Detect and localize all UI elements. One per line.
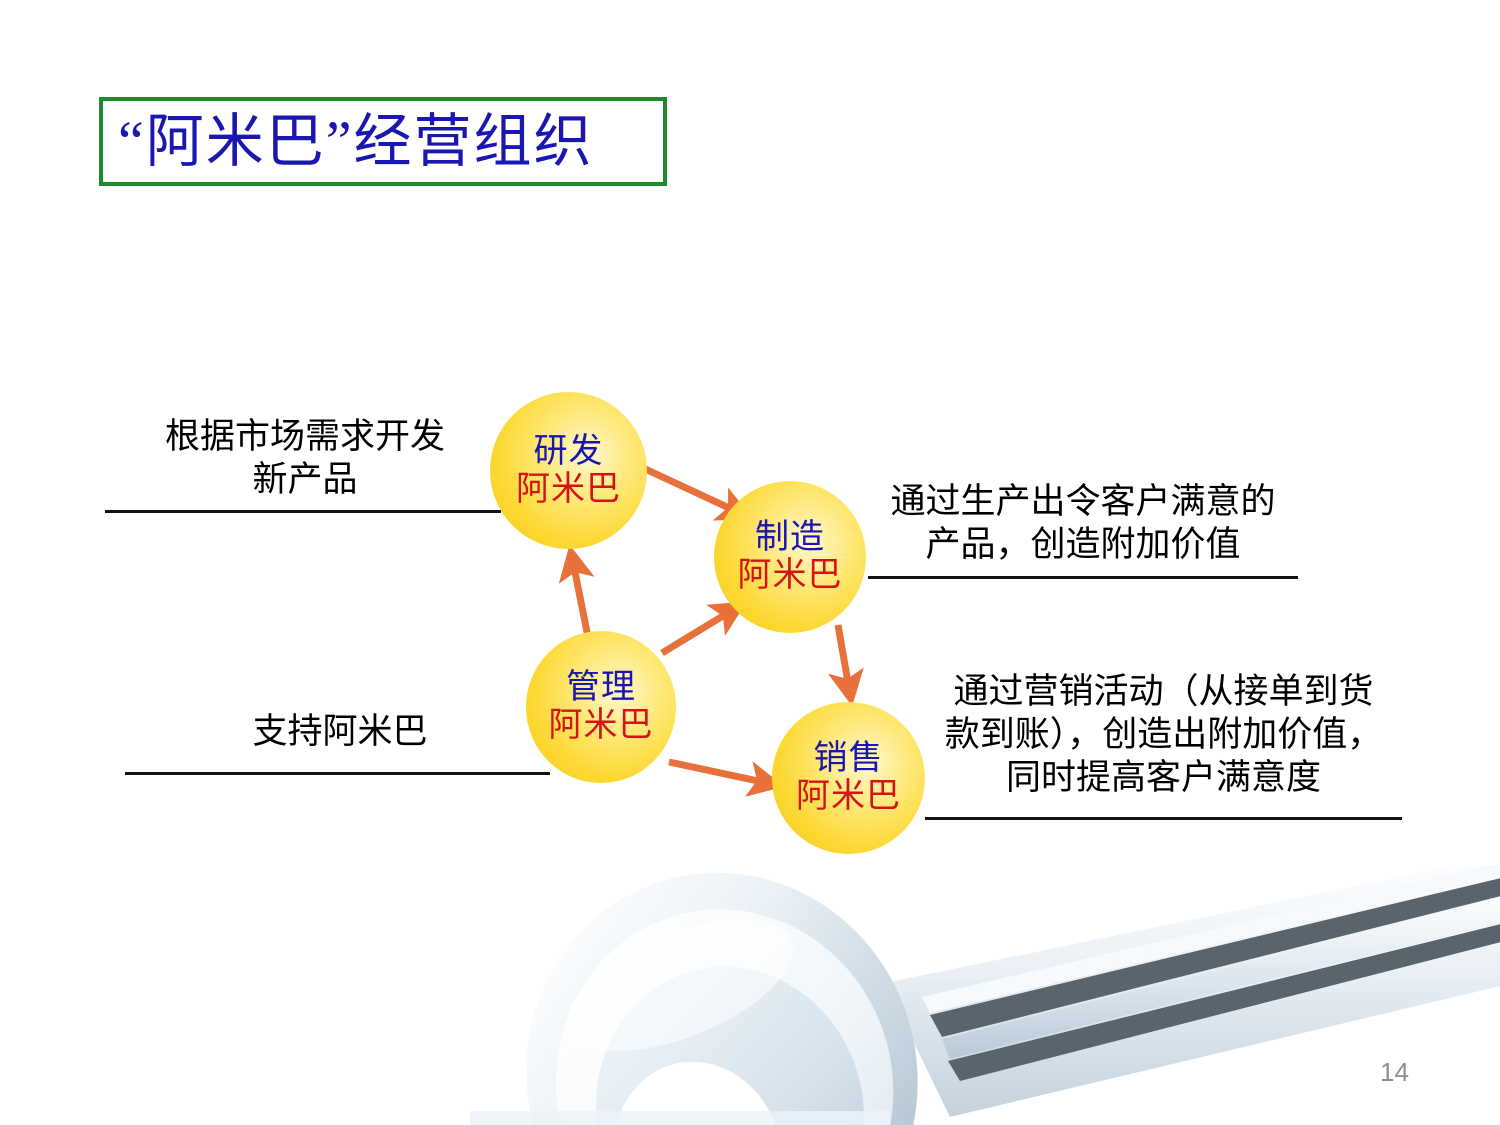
- node-management-sublabel: 阿米巴: [549, 708, 654, 744]
- annotation-mgmt-text: 支持阿米巴: [125, 710, 555, 753]
- page-number: 14: [1380, 1057, 1440, 1088]
- annotation-rd-underline: [105, 510, 501, 513]
- annotation-rd-text: 根据市场需求开发 新产品: [105, 415, 505, 501]
- annotation-sales-underline: [925, 817, 1402, 820]
- node-sales-label: 销售: [814, 741, 884, 777]
- node-management-label: 管理: [566, 670, 636, 706]
- annotation-mgmt-underline: [125, 772, 550, 775]
- annotation-sales-text: 通过营销活动（从接单到货 款到账），创造出附加价值， 同时提高客户满意度: [925, 670, 1402, 799]
- node-rd-sublabel: 阿米巴: [516, 472, 621, 508]
- node-manufacturing-label: 制造: [755, 520, 825, 556]
- annotation-mfg-text: 通过生产出令客户满意的 产品，创造附加价值: [868, 480, 1298, 566]
- slide-canvas: “阿米巴”经营组织 根据市场需求开发 新产品 通过生产出令客户满意的 产品，创造…: [0, 0, 1500, 1125]
- arrow-mgmt-to-rd: [572, 557, 588, 637]
- page-title: “阿米巴”经营组织: [118, 104, 658, 180]
- node-manufacturing[interactable]: 制造 阿米巴: [714, 481, 866, 633]
- node-rd[interactable]: 研发 阿米巴: [490, 392, 647, 549]
- node-management[interactable]: 管理 阿米巴: [526, 631, 676, 783]
- node-sales[interactable]: 销售 阿米巴: [772, 702, 925, 854]
- node-sales-sublabel: 阿米巴: [796, 779, 901, 815]
- arrow-rd-to-mfg: [641, 467, 742, 514]
- arrow-mgmt-to-mfg: [662, 608, 736, 653]
- node-rd-label: 研发: [534, 434, 604, 470]
- key-decoration-icon: [430, 865, 1500, 1125]
- annotation-mfg-underline: [868, 576, 1298, 579]
- node-manufacturing-sublabel: 阿米巴: [738, 558, 843, 594]
- arrow-mgmt-to-sales: [669, 762, 772, 784]
- arrow-mfg-to-sales: [838, 625, 850, 694]
